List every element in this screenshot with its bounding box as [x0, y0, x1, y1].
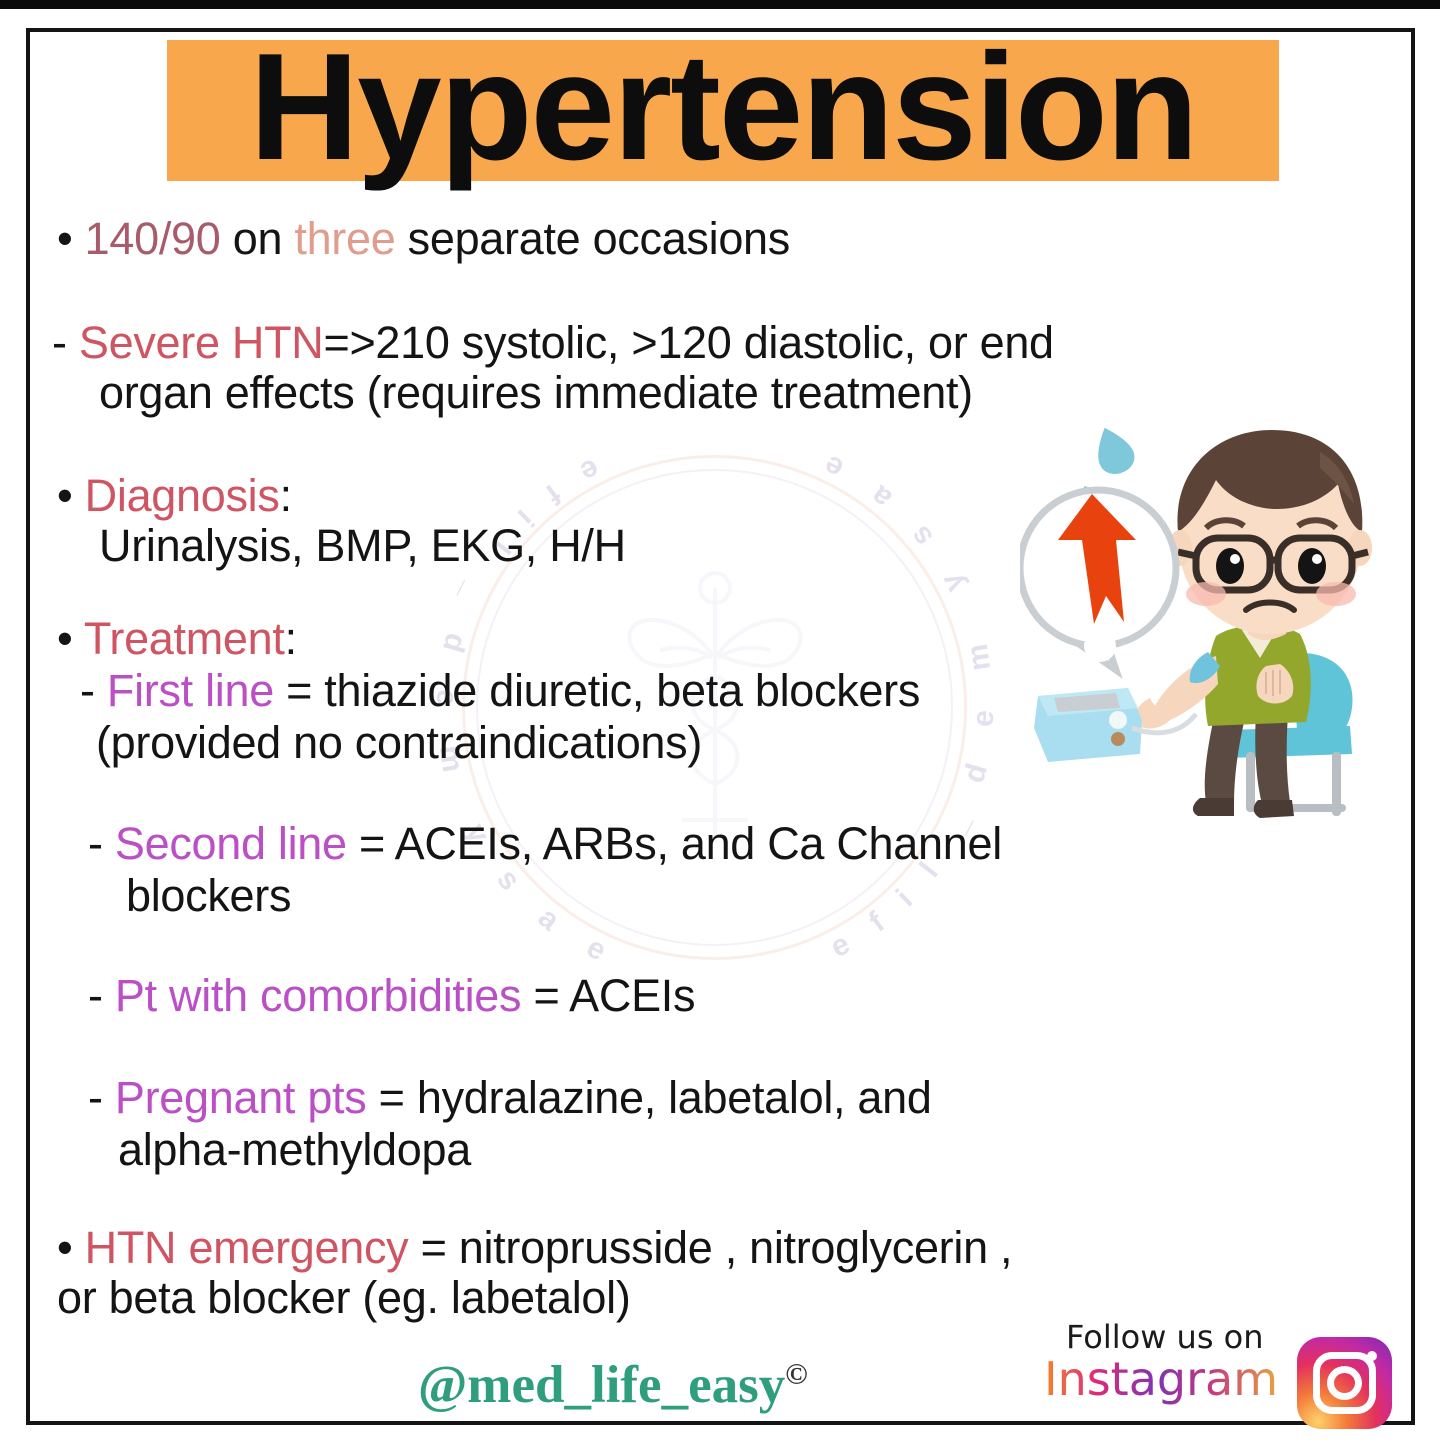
- htn-emergency-text: = nitroprusside , nitroglycerin ,: [408, 1222, 1012, 1273]
- treatment-label: Treatment: [84, 613, 285, 664]
- list-item-continuation: or beta blocker (eg. labetalol): [57, 1272, 631, 1324]
- comorbidities-label: Pt with comorbidities: [115, 970, 521, 1021]
- b2-line1: =>210 systolic, >120 diastolic, or end: [323, 317, 1053, 368]
- dash-marker: -: [88, 1072, 103, 1123]
- dash-marker: -: [52, 317, 67, 368]
- instagram-lens: [1327, 1366, 1362, 1400]
- infographic-body: • 140/90 on three separate occasions - S…: [0, 0, 1440, 1440]
- instagram-wordmark: Instagram: [1044, 1352, 1278, 1406]
- first-line-text: = thiazide diuretic, beta blockers: [274, 665, 920, 716]
- list-item-continuation: (provided no contraindications): [96, 717, 702, 769]
- pregnant-label: Pregnant pts: [115, 1072, 367, 1123]
- dash-marker: -: [88, 970, 103, 1021]
- bullet-marker: •: [57, 470, 72, 521]
- b1-emph: three: [294, 213, 395, 264]
- severe-htn-label: Severe HTN: [79, 317, 324, 368]
- list-item: - Pregnant pts = hydralazine, labetalol,…: [88, 1072, 932, 1124]
- comorbidities-text: = ACEIs: [521, 970, 695, 1021]
- list-item-continuation: alpha-methyldopa: [118, 1124, 471, 1176]
- bp-value: 140/90: [85, 213, 221, 264]
- htn-emergency-label: HTN emergency: [85, 1222, 409, 1273]
- list-item-continuation: blockers: [126, 870, 291, 922]
- first-line-label: First line: [107, 665, 274, 716]
- list-item: • 140/90 on three separate occasions: [57, 213, 790, 265]
- pregnant-text: = hydralazine, labetalol, and: [366, 1072, 931, 1123]
- handle-text: @med_life_easy: [418, 1356, 785, 1414]
- second-line-label: Second line: [115, 818, 347, 869]
- follow-us-text: Follow us on: [1066, 1318, 1264, 1356]
- list-item: • HTN emergency = nitroprusside , nitrog…: [57, 1222, 1012, 1274]
- list-item-continuation: organ effects (requires immediate treatm…: [99, 367, 973, 419]
- bullet-marker: •: [57, 1222, 72, 1273]
- b1-mid: on: [221, 213, 295, 264]
- instagram-logo-icon[interactable]: [1297, 1337, 1392, 1429]
- list-item: - First line = thiazide diuretic, beta b…: [80, 665, 920, 717]
- list-item: • Treatment:: [57, 613, 297, 665]
- list-item: - Second line = ACEIs, ARBs, and Ca Chan…: [88, 818, 1002, 870]
- treatment-colon: :: [285, 613, 297, 664]
- list-item: - Severe HTN=>210 systolic, >120 diastol…: [52, 317, 1054, 369]
- diagnosis-colon: :: [280, 470, 292, 521]
- list-item: • Diagnosis:: [57, 470, 292, 522]
- bullet-marker: •: [57, 613, 72, 664]
- instagram-handle[interactable]: @med_life_easy©: [418, 1355, 808, 1415]
- dash-marker: -: [80, 665, 95, 716]
- b1-rest: separate occasions: [395, 213, 790, 264]
- diagnosis-tests: Urinalysis, BMP, EKG, H/H: [99, 520, 626, 572]
- list-item: - Pt with comorbidities = ACEIs: [88, 970, 695, 1022]
- second-line-text: = ACEIs, ARBs, and Ca Channel: [347, 818, 1002, 869]
- copyright-mark: ©: [785, 1357, 807, 1390]
- bullet-marker: •: [57, 213, 72, 264]
- dash-marker: -: [88, 818, 103, 869]
- diagnosis-label: Diagnosis: [85, 470, 280, 521]
- instagram-dot: [1367, 1351, 1377, 1361]
